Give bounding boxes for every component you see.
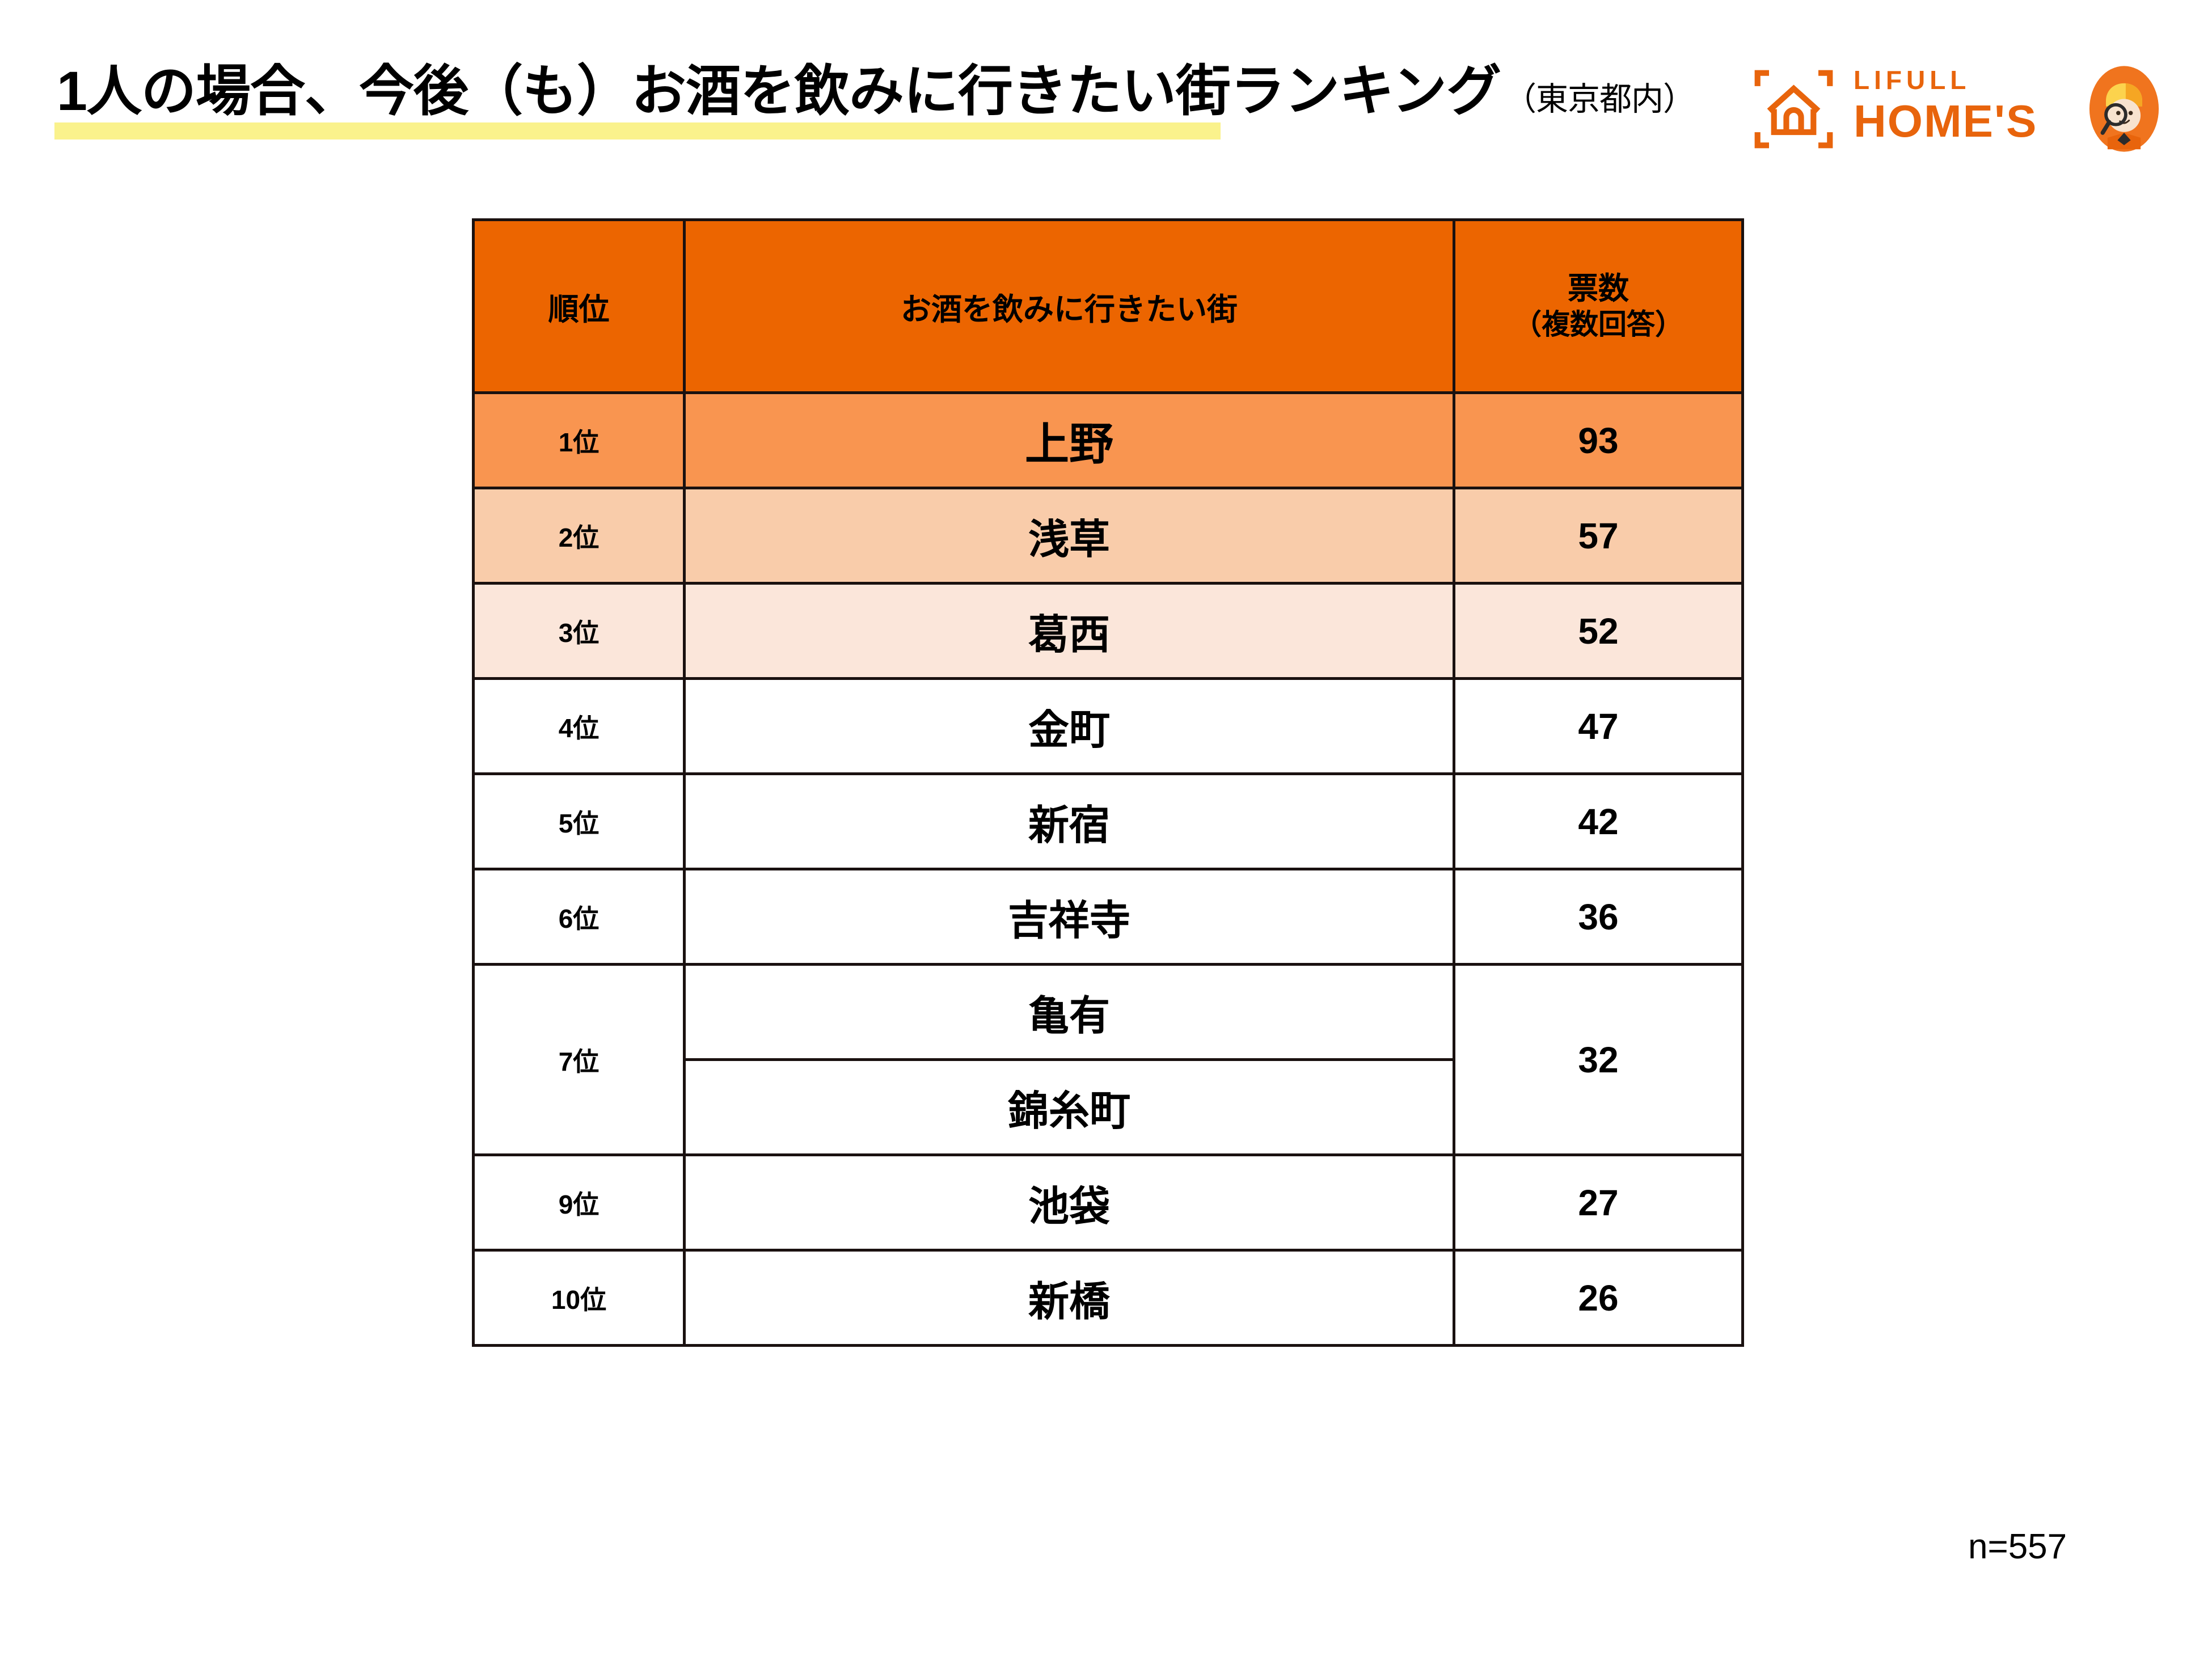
cell-votes: 42 bbox=[1454, 774, 1743, 869]
table-header-row: 順位 お酒を飲みに行きたい街 票数 （複数回答） bbox=[474, 220, 1743, 393]
table-row: 4位 金町 47 bbox=[474, 679, 1743, 774]
cell-town: 新宿 bbox=[685, 774, 1454, 869]
page-title-subtitle: （東京都内） bbox=[1504, 73, 1695, 120]
cell-town: 葛西 bbox=[685, 584, 1454, 679]
page-title: 1人の場合、今後（も）お酒を飲みに行きたい街ランキング （東京都内） bbox=[57, 62, 1695, 120]
table-header: 順位 お酒を飲みに行きたい街 票数 （複数回答） bbox=[474, 220, 1743, 393]
cell-rank: 1位 bbox=[474, 393, 685, 488]
table-row: 3位 葛西 52 bbox=[474, 584, 1743, 679]
column-header-votes: 票数 （複数回答） bbox=[1454, 220, 1743, 393]
lifull-homes-logo: LIFULL HOME'S bbox=[1753, 64, 2172, 154]
cell-votes: 32 bbox=[1454, 965, 1743, 1155]
cell-votes: 57 bbox=[1454, 488, 1743, 584]
cell-town: 浅草 bbox=[685, 488, 1454, 584]
cell-votes: 36 bbox=[1454, 869, 1743, 965]
table-row: 6位 吉祥寺 36 bbox=[474, 869, 1743, 965]
page-title-main: 1人の場合、今後（も）お酒を飲みに行きたい街ランキング bbox=[57, 62, 1501, 120]
table-row: 2位 浅草 57 bbox=[474, 488, 1743, 584]
column-header-town: お酒を飲みに行きたい街 bbox=[685, 220, 1454, 393]
table-row: 1位 上野 93 bbox=[474, 393, 1743, 488]
table-row: 10位 新橋 26 bbox=[474, 1250, 1743, 1346]
cell-rank: 7位 bbox=[474, 965, 685, 1155]
column-header-votes-line1: 票数 bbox=[1568, 272, 1629, 306]
cell-votes: 93 bbox=[1454, 393, 1743, 488]
cell-votes: 27 bbox=[1454, 1155, 1743, 1250]
table-row: 9位 池袋 27 bbox=[474, 1155, 1743, 1250]
column-header-votes-line2: （複数回答） bbox=[1455, 307, 1741, 342]
cell-town: 新橋 bbox=[685, 1250, 1454, 1346]
table-row: 7位 亀有 32 bbox=[474, 965, 1743, 1060]
cell-rank: 6位 bbox=[474, 869, 685, 965]
cell-town: 亀有 bbox=[685, 965, 1454, 1060]
cell-town: 錦糸町 bbox=[685, 1060, 1454, 1155]
logo-homes-text: HOME'S bbox=[1854, 99, 2063, 144]
table-row: 5位 新宿 42 bbox=[474, 774, 1743, 869]
cell-town: 池袋 bbox=[685, 1155, 1454, 1250]
cell-rank: 3位 bbox=[474, 584, 685, 679]
logo-lifull-text: LIFULL bbox=[1854, 67, 2063, 93]
lifull-mascot-icon bbox=[2082, 64, 2167, 154]
cell-rank: 2位 bbox=[474, 488, 685, 584]
cell-rank: 10位 bbox=[474, 1250, 685, 1346]
cell-rank: 5位 bbox=[474, 774, 685, 869]
cell-votes: 47 bbox=[1454, 679, 1743, 774]
title-highlight-bar bbox=[54, 122, 1221, 140]
ranking-table: 順位 お酒を飲みに行きたい街 票数 （複数回答） 1位 上野 93 2位 浅草 … bbox=[472, 218, 1744, 1347]
cell-town: 吉祥寺 bbox=[685, 869, 1454, 965]
cell-rank: 4位 bbox=[474, 679, 685, 774]
cell-rank: 9位 bbox=[474, 1155, 685, 1250]
cell-town: 上野 bbox=[685, 393, 1454, 488]
cell-town: 金町 bbox=[685, 679, 1454, 774]
logo-wordmark: LIFULL HOME'S bbox=[1854, 67, 2063, 144]
cell-votes: 52 bbox=[1454, 584, 1743, 679]
table-body: 1位 上野 93 2位 浅草 57 3位 葛西 52 4位 金町 47 5位 新… bbox=[474, 393, 1743, 1346]
page-header: 1人の場合、今後（も）お酒を飲みに行きたい街ランキング （東京都内） LIFUL… bbox=[0, 0, 2212, 187]
sample-size-note: n=557 bbox=[1968, 1527, 2067, 1567]
house-bracket-icon bbox=[1753, 68, 1835, 150]
cell-votes: 26 bbox=[1454, 1250, 1743, 1346]
column-header-rank: 順位 bbox=[474, 220, 685, 393]
